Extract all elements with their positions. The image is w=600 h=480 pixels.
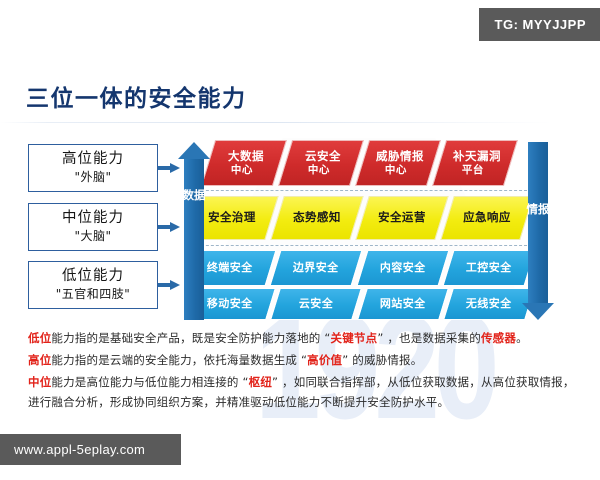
pyramid-cell-main: 态势感知 bbox=[293, 211, 341, 224]
paragraph-low: 低位能力指的是基础安全产品，既是安全防护能力落地的 “关键节点” ，也是数据采集… bbox=[28, 328, 576, 348]
capability-box-middle[interactable]: 中位能力 "大脑" bbox=[28, 203, 158, 251]
pyramid-cell[interactable]: 云安全 中心 bbox=[277, 140, 363, 186]
capability-pyramid: 大数据 中心 云安全 中心 威胁情报 中心 补天漏洞 平台 安全治理 态势感知 bbox=[186, 138, 532, 320]
capability-box-low-line2: "五官和四肢" bbox=[56, 285, 131, 302]
page-title: 三位一体的安全能力 bbox=[26, 79, 247, 113]
capability-box-high-line2: "外脑" bbox=[74, 168, 111, 185]
pyramid-cell-main: 威胁情报 bbox=[375, 150, 423, 163]
pyramid-cell-sub: 中心 bbox=[307, 164, 329, 176]
arrow-up-label: 数据 bbox=[182, 188, 206, 202]
paragraph-text: 能力指的是基础安全产品，既是安全防护能力落地的 “ bbox=[51, 331, 330, 345]
title-divider bbox=[0, 122, 600, 123]
pyramid-cell-main: 网站安全 bbox=[379, 298, 425, 311]
capability-box-high[interactable]: 高位能力 "外脑" bbox=[28, 144, 158, 192]
pyramid-cell[interactable]: 威胁情报 中心 bbox=[354, 140, 440, 186]
site-watermark-bar: www.appl-5eplay.com bbox=[0, 434, 181, 465]
arrow-down-label: 情报 bbox=[526, 202, 550, 216]
pyramid-tier-middle: 安全治理 态势感知 安全运营 应急响应 bbox=[186, 196, 532, 240]
paragraph-highlight: 高价值 bbox=[307, 353, 342, 367]
pyramid-cell-main: 工控安全 bbox=[466, 262, 512, 275]
slide-canvas: 1920 TG: MYYJJPP 三位一体的安全能力 高位能力 "外脑" 中位能… bbox=[0, 0, 600, 480]
paragraph-middle: 中位能力是高位能力与低位能力相连接的 “枢纽” ，如同联合指挥部，从低位获取数据… bbox=[28, 372, 576, 412]
arrow-right-icon-middle bbox=[158, 222, 180, 231]
tg-tag-badge: TG: MYYJJPP bbox=[479, 8, 600, 41]
paragraph-text: ” 的威胁情报。 bbox=[342, 353, 422, 367]
pyramid-cell-main: 内容安全 bbox=[379, 262, 425, 275]
pyramid-cell-main: 移动安全 bbox=[206, 298, 252, 311]
pyramid-cell[interactable]: 网站安全 bbox=[357, 288, 448, 320]
pyramid-cell[interactable]: 无线安全 bbox=[443, 288, 534, 320]
capability-box-high-line1: 高位能力 bbox=[62, 151, 124, 168]
pyramid-cell-main: 无线安全 bbox=[466, 298, 512, 311]
capability-box-low-line1: 低位能力 bbox=[62, 268, 124, 285]
pyramid-cell-main: 边界安全 bbox=[293, 262, 339, 275]
pyramid-cell[interactable]: 态势感知 bbox=[270, 196, 363, 240]
pyramid-cell-sub: 中心 bbox=[384, 164, 406, 176]
arrow-right-icon-high bbox=[158, 163, 180, 172]
pyramid-cell[interactable]: 云安全 bbox=[270, 288, 361, 320]
paragraph-highlight: 高位 bbox=[28, 353, 51, 367]
paragraph-high: 高位能力指的是云端的安全能力，依托海量数据生成 “高价值” 的威胁情报。 bbox=[28, 350, 576, 370]
paragraph-highlight: 低位 bbox=[28, 331, 51, 345]
pyramid-cell-sub: 平台 bbox=[461, 164, 483, 176]
paragraph-highlight: 中位 bbox=[28, 375, 51, 389]
pyramid-tier-high: 大数据 中心 云安全 中心 威胁情报 中心 补天漏洞 平台 bbox=[186, 140, 532, 186]
pyramid-cell[interactable]: 应急响应 bbox=[440, 196, 533, 240]
paragraph-text: 。 bbox=[516, 331, 528, 345]
arrow-right-icon-low bbox=[158, 280, 180, 289]
arrow-down-icon bbox=[522, 303, 554, 320]
capability-box-low[interactable]: 低位能力 "五官和四肢" bbox=[28, 261, 158, 309]
paragraph-text: 能力是高位能力与低位能力相连接的 “ bbox=[51, 375, 248, 389]
pyramid-cell-sub: 中心 bbox=[230, 164, 252, 176]
paragraph-highlight: 关键节点 bbox=[331, 331, 378, 345]
pyramid-cell[interactable]: 内容安全 bbox=[356, 250, 449, 286]
pyramid-cell-main: 安全治理 bbox=[208, 211, 256, 224]
paragraph-highlight: 枢纽 bbox=[249, 375, 272, 389]
pyramid-cell-main: 补天漏洞 bbox=[452, 150, 500, 163]
pyramid-cell-main: 云安全 bbox=[299, 298, 333, 311]
pyramid-cell[interactable]: 大数据 中心 bbox=[200, 140, 286, 186]
pyramid-cell-main: 终端安全 bbox=[206, 262, 252, 275]
pyramid-tier-low-lower: 移动安全 云安全 网站安全 无线安全 bbox=[186, 288, 532, 320]
paragraph-text: 能力指的是云端的安全能力，依托海量数据生成 “ bbox=[51, 353, 307, 367]
arrow-up-icon bbox=[178, 142, 210, 159]
arrow-down-intel: 情报 bbox=[526, 142, 550, 320]
pyramid-cell-main: 大数据 bbox=[227, 150, 263, 163]
pyramid-cell[interactable]: 补天漏洞 平台 bbox=[431, 140, 517, 186]
capability-box-middle-line1: 中位能力 bbox=[62, 210, 124, 227]
pyramid-cell-main: 应急响应 bbox=[463, 211, 511, 224]
pyramid-cell[interactable]: 工控安全 bbox=[442, 250, 535, 286]
pyramid-cell-main: 安全运营 bbox=[378, 211, 426, 224]
pyramid-cell-main: 云安全 bbox=[304, 150, 340, 163]
paragraph-highlight: 传感器 bbox=[481, 331, 516, 345]
pyramid-cell[interactable]: 安全运营 bbox=[355, 196, 448, 240]
capability-box-middle-line2: "大脑" bbox=[74, 227, 111, 244]
paragraph-text: ” ，也是数据采集的 bbox=[377, 331, 481, 345]
pyramid-cell[interactable]: 边界安全 bbox=[269, 250, 362, 286]
arrow-up-data: 数据 bbox=[182, 142, 206, 320]
pyramid-tier-low-upper: 终端安全 边界安全 内容安全 工控安全 bbox=[186, 250, 532, 286]
